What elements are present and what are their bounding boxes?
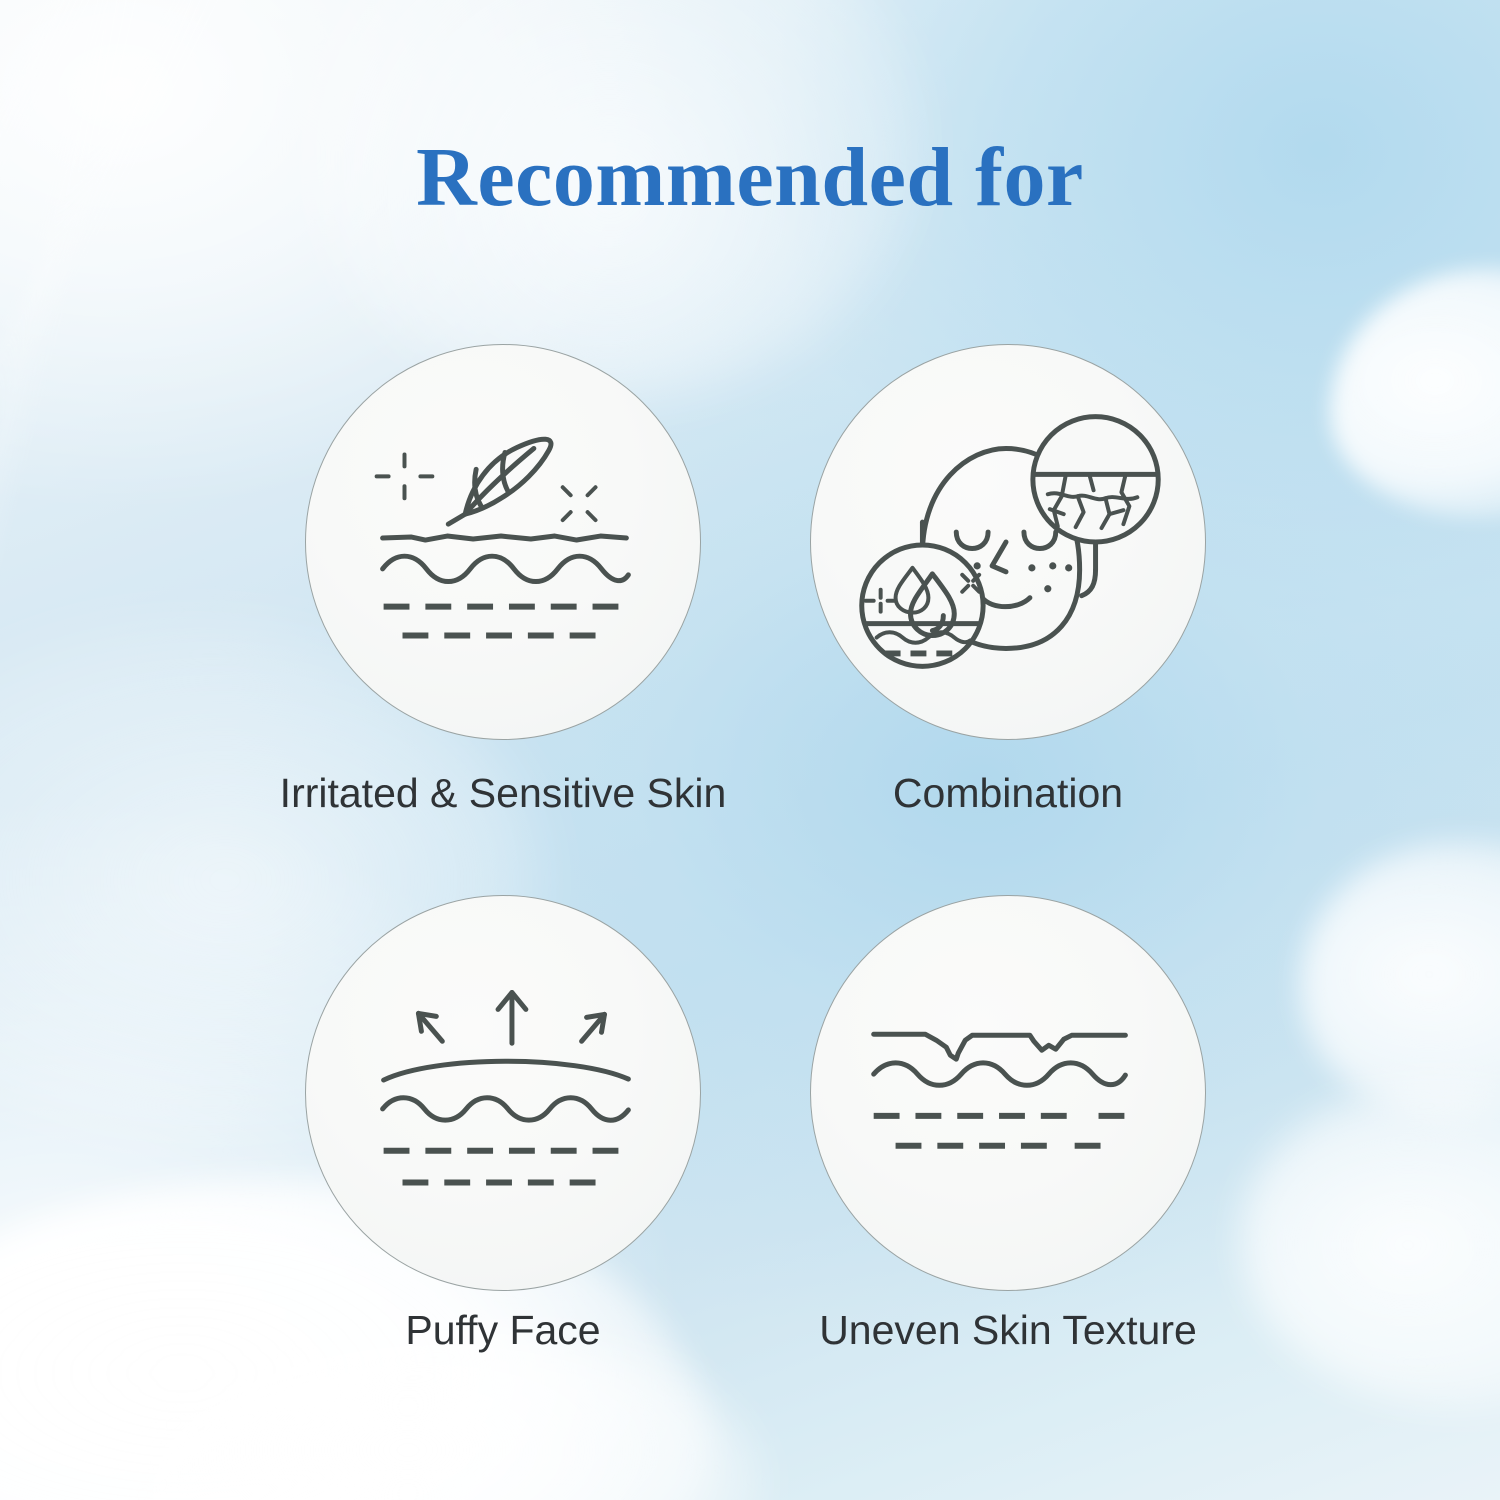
- card-label: Combination: [690, 770, 1326, 817]
- face-with-dry-and-hydrated-zones-icon: [811, 345, 1205, 739]
- recommendation-card-puffy-face[interactable]: Puffy Face: [305, 895, 701, 1291]
- recommendation-card-combination[interactable]: Combination: [810, 344, 1206, 740]
- recommendation-card-uneven-skin-texture[interactable]: Uneven Skin Texture: [810, 895, 1206, 1291]
- recommendation-card-irritated-sensitive-skin[interactable]: Irritated & Sensitive Skin: [305, 344, 701, 740]
- icon-circle: [810, 344, 1206, 740]
- icon-circle: [305, 895, 701, 1291]
- icon-circle: [810, 895, 1206, 1291]
- card-label: Uneven Skin Texture: [690, 1307, 1326, 1354]
- icon-circle: [305, 344, 701, 740]
- feather-over-skin-layers-icon: [306, 345, 700, 739]
- swollen-skin-with-arrows-icon: [306, 896, 700, 1290]
- uneven-skin-surface-icon: [811, 896, 1205, 1290]
- infographic-canvas: Recommended for: [0, 0, 1500, 1500]
- page-title: Recommended for: [0, 136, 1500, 220]
